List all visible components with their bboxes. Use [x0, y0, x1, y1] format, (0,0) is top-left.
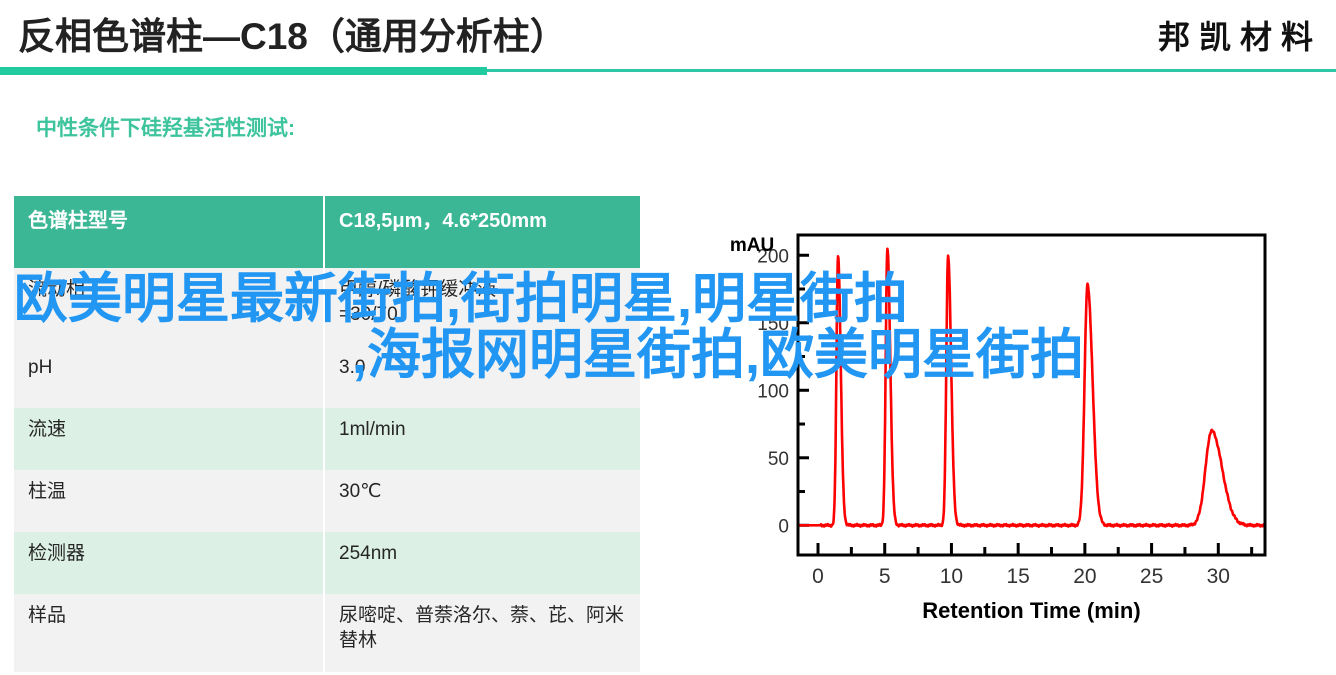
x-tick-label: 20 — [1073, 565, 1096, 588]
table-row: pH 3.0 — [14, 346, 640, 408]
table-header-row: 色谱柱型号 C18,5μm，4.6*250mm — [14, 196, 640, 268]
table-cell-key: 样品 — [14, 594, 324, 672]
header-rule-thin — [487, 69, 1336, 72]
y-tick-label: 0 — [778, 516, 789, 537]
table-cell-value: 30℃ — [324, 470, 640, 532]
chromatogram-svg: 050100150200mAU051015202530Retention Tim… — [672, 222, 1292, 642]
plot-frame — [798, 235, 1265, 555]
x-tick-label: 5 — [879, 565, 891, 588]
header-rule-thick — [0, 67, 487, 75]
page-title: 反相色谱柱—C18（通用分析柱） — [18, 6, 567, 60]
table-header-key: 色谱柱型号 — [14, 196, 324, 268]
table-row: 样品 尿嘧啶、普萘洛尔、萘、芘、阿米替林 — [14, 594, 640, 672]
table-cell-key: 检测器 — [14, 532, 324, 594]
y-axis-label: mAU — [730, 235, 774, 256]
section-heading: 中性条件下硅羟基活性测试: — [36, 112, 295, 142]
table-cell-key: 流速 — [14, 408, 324, 470]
x-tick-label: 15 — [1006, 565, 1029, 588]
table-row: 检测器 254nm — [14, 532, 640, 594]
chromatogram-trace — [798, 249, 1265, 527]
chromatogram-chart: 050100150200mAU051015202530Retention Tim… — [672, 222, 1292, 642]
x-tick-label: 0 — [812, 565, 824, 588]
y-tick-label: 100 — [757, 381, 789, 402]
y-tick-label: 50 — [768, 449, 789, 470]
spec-table: 色谱柱型号 C18,5μm，4.6*250mm 流动相 甲醇/磷酸钾缓冲液 =3… — [14, 196, 640, 672]
table-cell-value: 254nm — [324, 532, 640, 594]
table-row: 流动相 甲醇/磷酸钾缓冲液 =30/70 — [14, 268, 640, 346]
y-tick-label: 150 — [757, 314, 789, 335]
page-header: 反相色谱柱—C18（通用分析柱） 邦凯材料 — [0, 0, 1336, 78]
table-cell-value: 3.0 — [324, 346, 640, 408]
x-tick-label: 25 — [1140, 565, 1163, 588]
table-cell-value: 甲醇/磷酸钾缓冲液 =30/70 — [324, 268, 640, 346]
table-cell-value: 尿嘧啶、普萘洛尔、萘、芘、阿米替林 — [324, 594, 640, 672]
table-cell-key: 流动相 — [14, 268, 324, 346]
x-tick-label: 30 — [1207, 565, 1230, 588]
table-cell-key: 柱温 — [14, 470, 324, 532]
table-cell-key: pH — [14, 346, 324, 408]
brand-logo: 邦凯材料 — [1158, 12, 1322, 58]
table-row: 柱温 30℃ — [14, 470, 640, 532]
x-tick-label: 10 — [940, 565, 963, 588]
table-row: 流速 1ml/min — [14, 408, 640, 470]
table-cell-value: 1ml/min — [324, 408, 640, 470]
x-axis-label: Retention Time (min) — [922, 598, 1140, 623]
table-header-value: C18,5μm，4.6*250mm — [324, 196, 640, 268]
